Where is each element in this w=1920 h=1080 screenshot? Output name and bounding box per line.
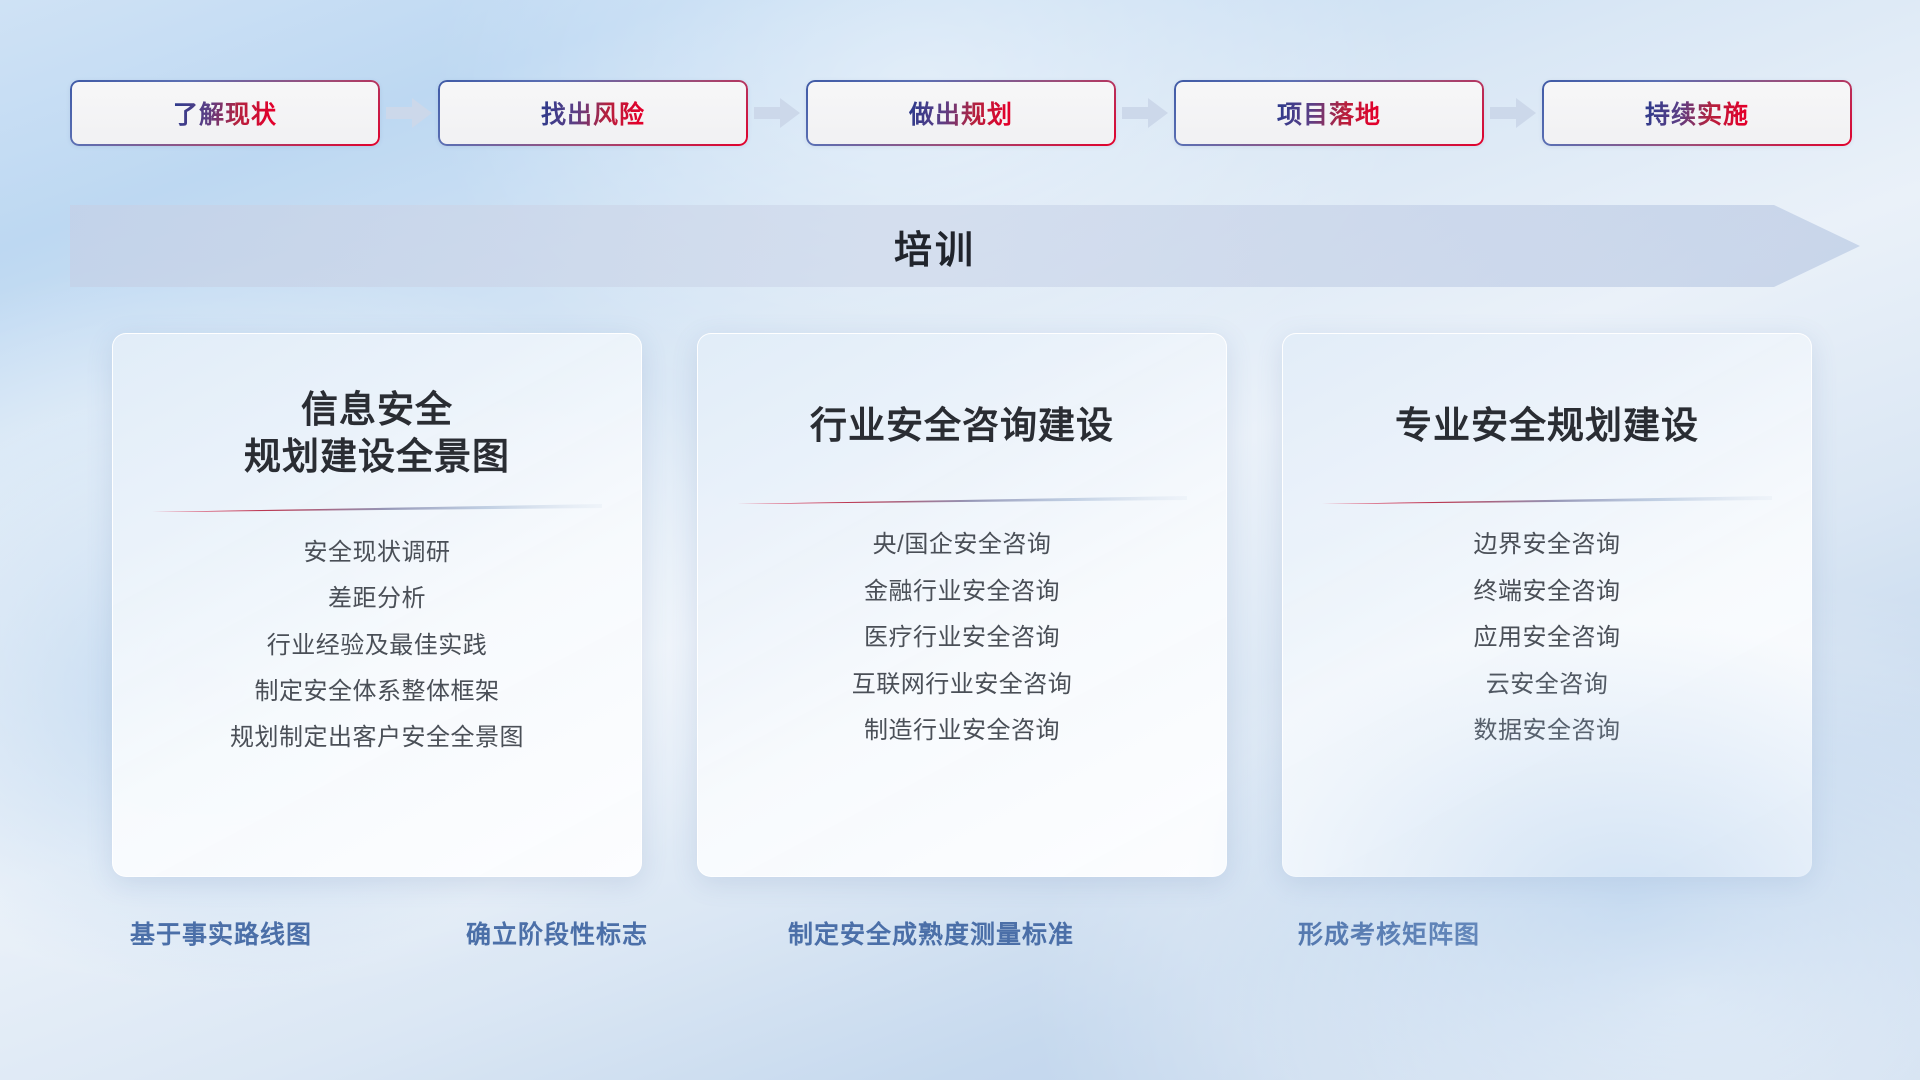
step-label-2: 找出风险 — [541, 95, 645, 131]
card-title: 信息安全 规划建设全景图 — [244, 386, 510, 481]
footer-caption-3: 制定安全成熟度测量标准 — [788, 915, 1074, 951]
step-label-1: 了解现状 — [173, 95, 277, 131]
slide-canvas: 了解现状 找出风险 做出规划 项目落地 — [0, 0, 1920, 1080]
list-item: 制定安全体系整体框架 — [255, 679, 500, 705]
list-item: 差距分析 — [328, 586, 426, 612]
card-item-list: 央/国企安全咨询 金融行业安全咨询 医疗行业安全咨询 互联网行业安全咨询 制造行… — [720, 532, 1204, 744]
list-item: 央/国企安全咨询 — [873, 532, 1052, 558]
arrow-right-icon — [1484, 96, 1542, 130]
card-title: 专业安全规划建设 — [1395, 402, 1699, 449]
card-industry-security-consulting[interactable]: 行业安全咨询建设 — [697, 333, 1227, 877]
list-item: 医疗行业安全咨询 — [864, 625, 1060, 651]
list-item: 安全现状调研 — [304, 540, 451, 566]
card-divider-rule — [152, 503, 602, 512]
training-banner: 培训 — [70, 205, 1860, 287]
list-item: 行业经验及最佳实践 — [267, 633, 488, 659]
process-step-row: 了解现状 找出风险 做出规划 项目落地 — [70, 78, 1852, 148]
card-divider-rule — [1322, 495, 1772, 504]
step-box-3[interactable]: 做出规划 — [806, 80, 1116, 146]
list-item: 金融行业安全咨询 — [864, 579, 1060, 605]
card-divider-rule — [737, 495, 1187, 504]
step-box-5[interactable]: 持续实施 — [1542, 80, 1852, 146]
step-label-3: 做出规划 — [909, 95, 1013, 131]
banner-label: 培训 — [70, 205, 1860, 287]
step-box-2[interactable]: 找出风险 — [438, 80, 748, 146]
list-item: 数据安全咨询 — [1474, 718, 1621, 744]
footer-caption-4: 形成考核矩阵图 — [1298, 915, 1480, 951]
card-row: 信息安全 规划建设全景图 — [112, 333, 1812, 875]
card-title: 行业安全咨询建设 — [810, 402, 1114, 449]
step-label-5: 持续实施 — [1645, 95, 1749, 131]
list-item: 规划制定出客户安全全景图 — [230, 725, 524, 751]
card-information-security-panorama[interactable]: 信息安全 规划建设全景图 — [112, 333, 642, 877]
list-item: 应用安全咨询 — [1474, 625, 1621, 651]
arrow-right-icon — [1116, 96, 1174, 130]
list-item: 边界安全咨询 — [1474, 532, 1621, 558]
list-item: 终端安全咨询 — [1474, 579, 1621, 605]
list-item: 制造行业安全咨询 — [864, 718, 1060, 744]
card-professional-security-planning[interactable]: 专业安全规划建设 — [1282, 333, 1812, 877]
list-item: 云安全咨询 — [1486, 672, 1609, 698]
step-box-1[interactable]: 了解现状 — [70, 80, 380, 146]
step-box-4[interactable]: 项目落地 — [1174, 80, 1484, 146]
list-item: 互联网行业安全咨询 — [852, 672, 1073, 698]
card-item-list: 边界安全咨询 终端安全咨询 应用安全咨询 云安全咨询 数据安全咨询 — [1305, 532, 1789, 744]
card-item-list: 安全现状调研 差距分析 行业经验及最佳实践 制定安全体系整体框架 规划制定出客户… — [135, 540, 619, 752]
arrow-right-icon — [748, 96, 806, 130]
footer-caption-2: 确立阶段性标志 — [466, 915, 648, 951]
footer-caption-row: 基于事实路线图 确立阶段性标志 制定安全成熟度测量标准 形成考核矩阵图 — [0, 915, 1920, 959]
arrow-right-icon — [380, 96, 438, 130]
footer-caption-1: 基于事实路线图 — [130, 915, 312, 951]
step-label-4: 项目落地 — [1277, 95, 1381, 131]
